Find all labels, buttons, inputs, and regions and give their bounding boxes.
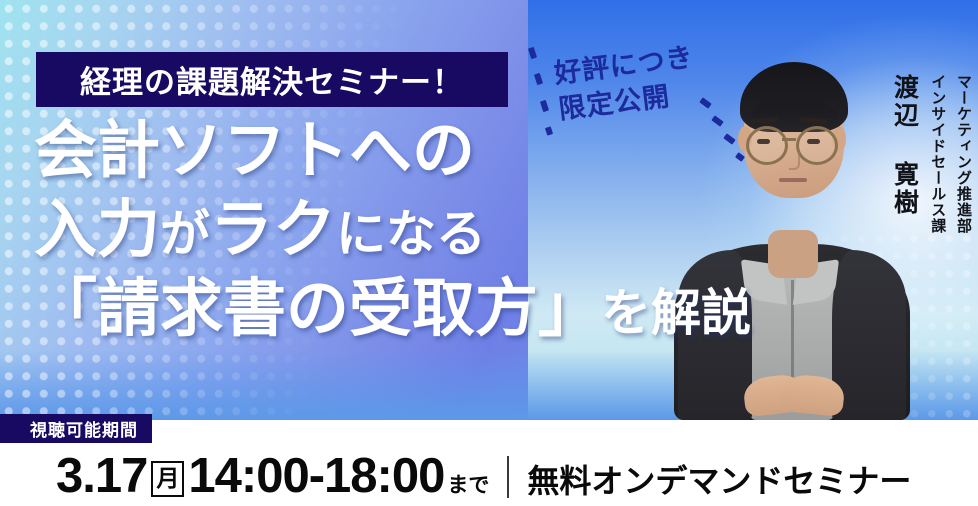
seminar-title-box: 経理の課題解決セミナー！	[36, 52, 508, 107]
headline-line-2-strong-2: ラク	[210, 195, 336, 265]
seminar-date: 3.17	[56, 448, 147, 504]
headline-line-3-strong: 「請求書の受取方」	[34, 274, 601, 344]
seminar-title-text: 経理の課題解決セミナー！	[80, 57, 464, 102]
presenter-name: 渡辺 寛樹	[887, 74, 923, 217]
footer-divider	[507, 456, 509, 498]
presenter-info: 渡辺 寛樹 インサイドセールス課 マーケティング推進部	[887, 74, 975, 234]
viewing-period-label: 視聴可能期間	[30, 416, 138, 441]
seminar-time: 14:00-18:00	[188, 448, 444, 504]
headline-line-3: 「請求書の受取方」を解説	[34, 278, 824, 341]
seminar-type-label: 無料オンデマンドセミナー	[527, 456, 911, 502]
headline-line-3-small: を解説	[601, 285, 751, 341]
presenter-department-line-1: マーケティング推進部	[952, 74, 974, 234]
presenter-department-line-2: インサイドセールス課	[927, 74, 949, 234]
headline-line-1: 会計ソフトへの	[34, 120, 824, 183]
headline-line-2-small-1: が	[160, 206, 210, 262]
headline-line-2-strong-1: 入力	[34, 195, 160, 265]
seminar-banner: 経理の課題解決セミナー！ 好評につき 限定公開 会計ソフトへの 入力がラクになる…	[0, 0, 978, 506]
viewing-period-badge: 視聴可能期間	[0, 414, 152, 443]
seminar-weekday: 月	[151, 461, 184, 497]
schedule-row: 3.17 月 14:00-18:00 まで 無料オンデマンドセミナー	[56, 448, 911, 504]
seminar-until-label: まで	[447, 469, 489, 499]
footer-bar: 視聴可能期間 3.17 月 14:00-18:00 まで 無料オンデマンドセミナ…	[0, 420, 978, 506]
headline-block: 会計ソフトへの 入力がラクになる 「請求書の受取方」を解説	[34, 120, 824, 341]
headline-line-2: 入力がラクになる	[34, 199, 824, 262]
headline-line-2-small-2: になる	[336, 206, 486, 262]
